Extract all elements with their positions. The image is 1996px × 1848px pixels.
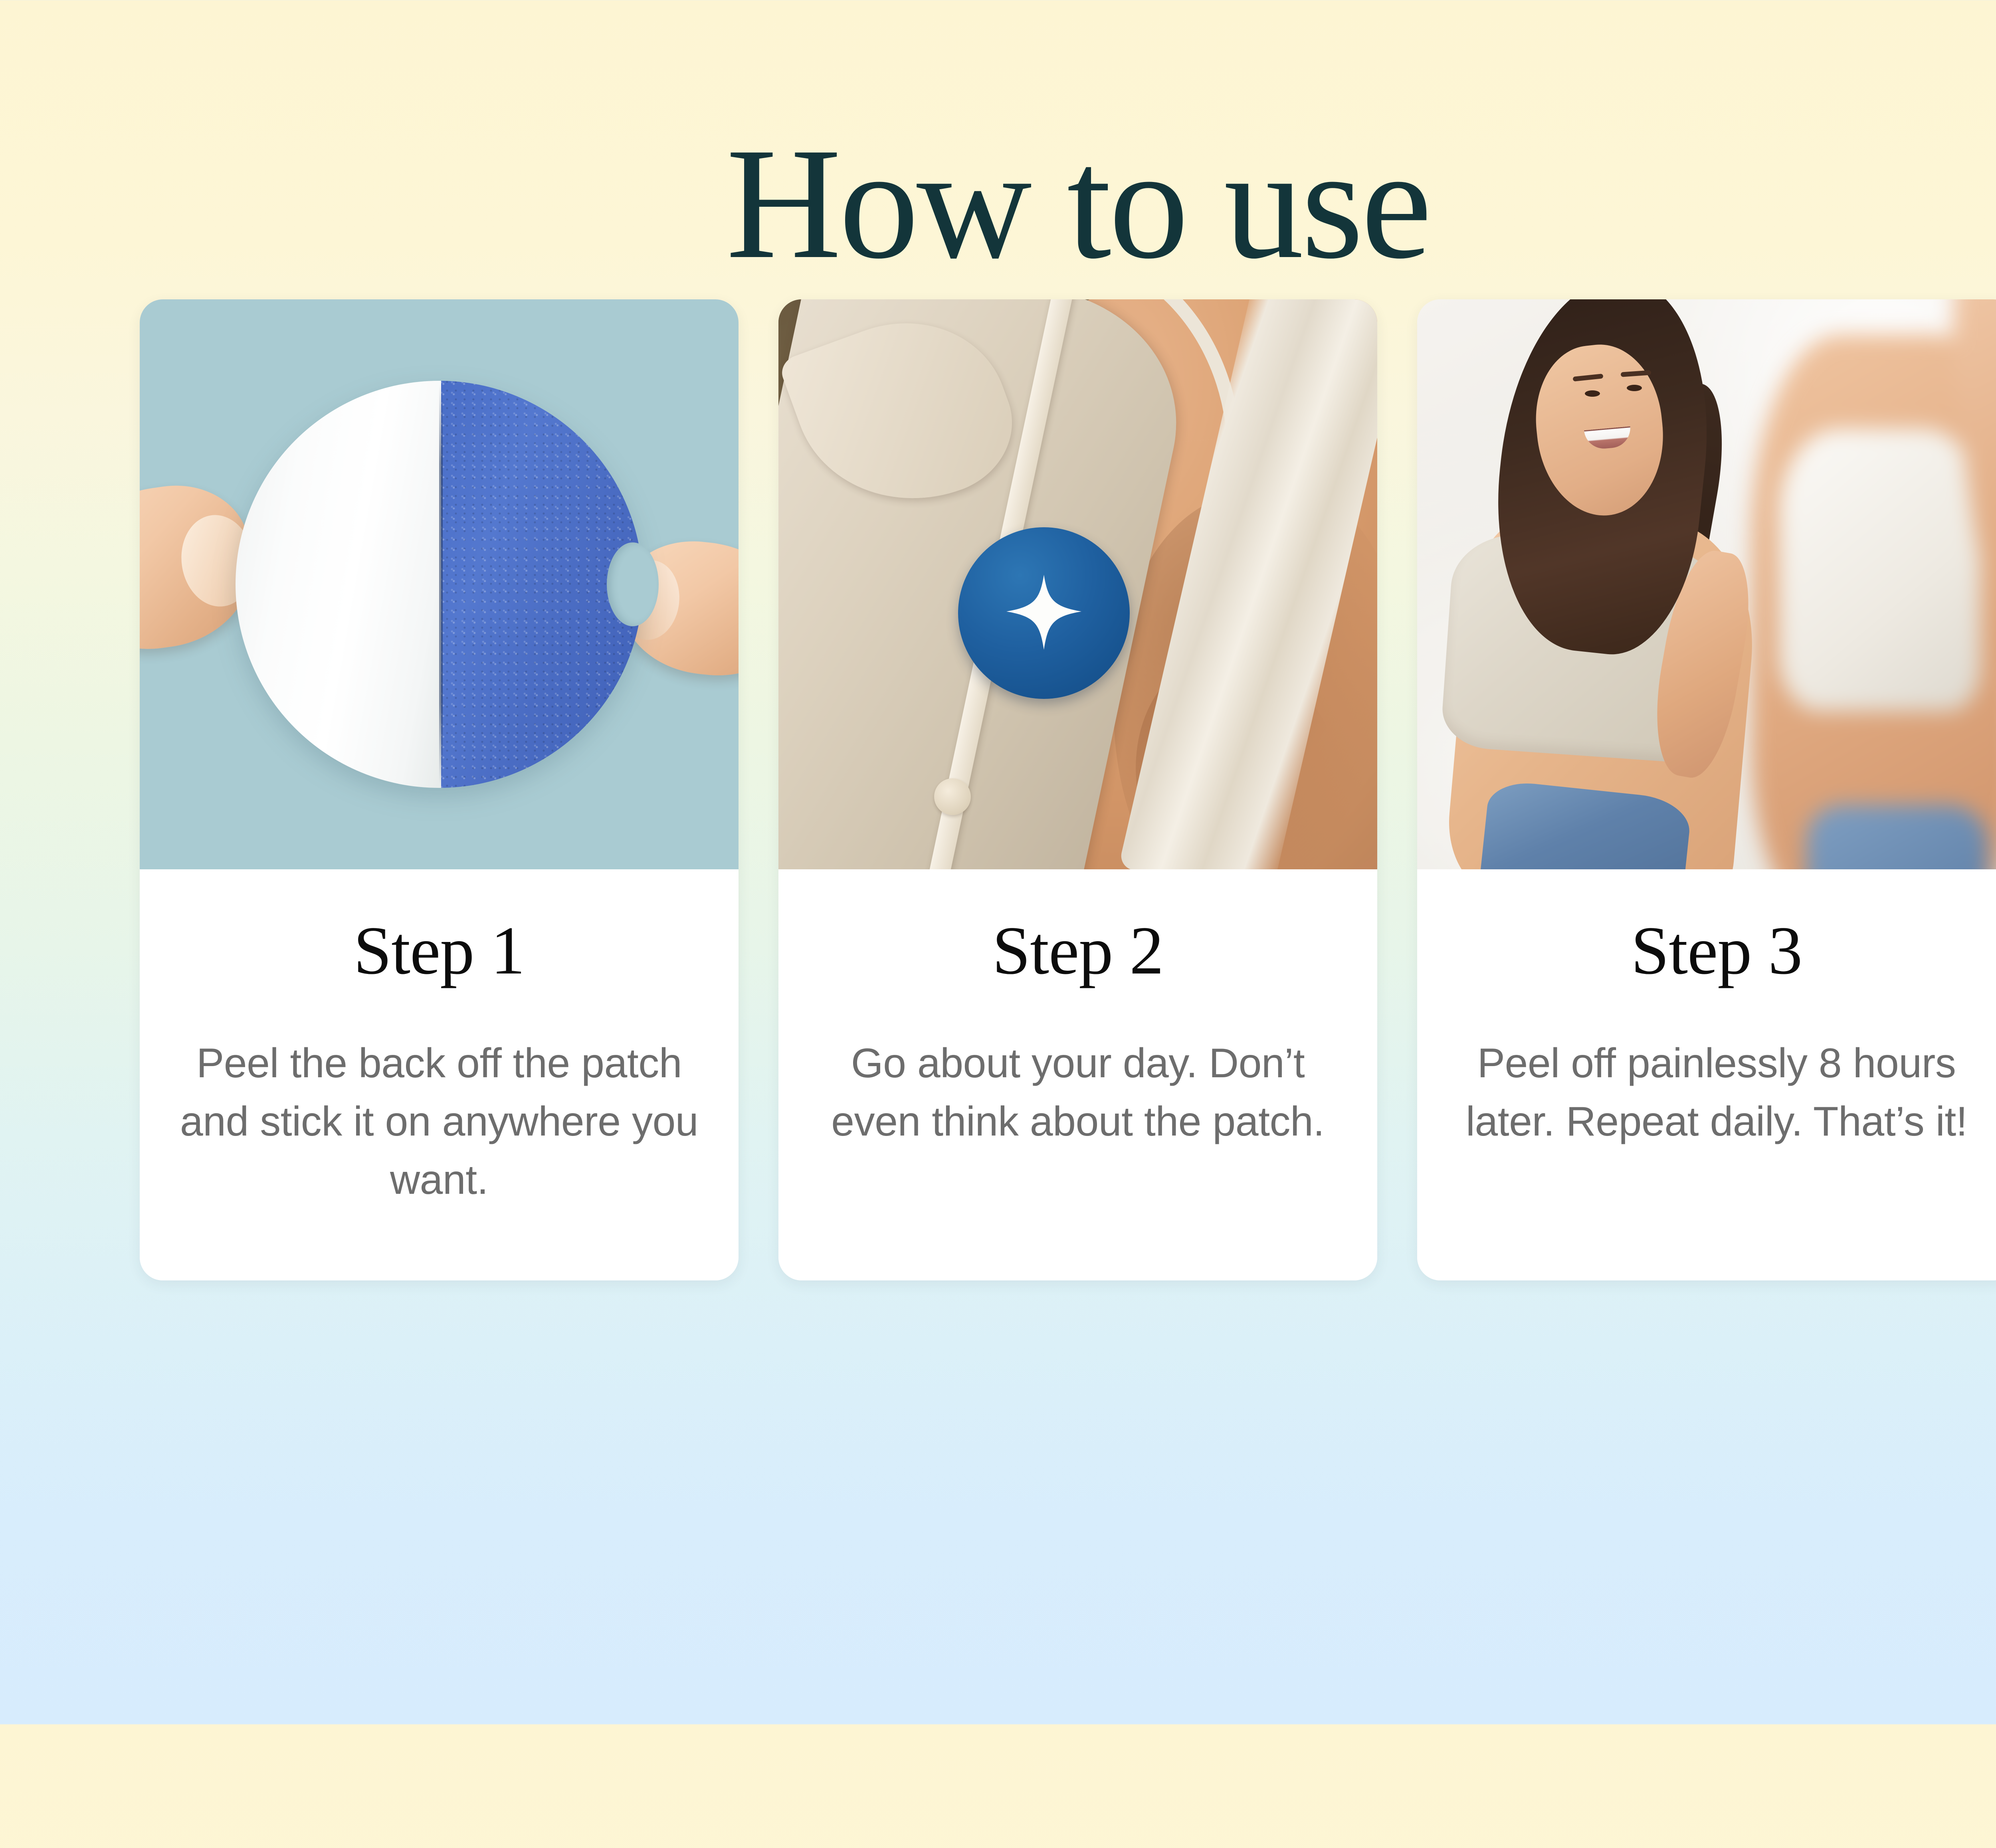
patch-illustration [236, 381, 643, 788]
step-1-description: Peel the back off the patch and stick it… [180, 1034, 699, 1209]
patch-seam-divider [439, 385, 443, 784]
blurred-person-jeans [1807, 805, 1987, 869]
shirt-button-icon [934, 778, 971, 815]
step-2-image [778, 299, 1377, 869]
step-3-description: Peel off painlessly 8 hours later. Repea… [1457, 1034, 1976, 1151]
step-3-title: Step 3 [1457, 916, 1976, 985]
step-card-2: Step 2 Go about your day. Don’t even thi… [778, 299, 1377, 1280]
step-card-1: Step 1 Peel the back off the patch and s… [140, 299, 739, 1280]
step-3-image [1417, 299, 1996, 869]
blue-patch-applied [958, 527, 1130, 699]
blurred-person-top [1779, 429, 1981, 711]
step-card-3: Step 3 Peel off painlessly 8 hours later… [1417, 299, 1996, 1280]
blurred-second-person [1717, 299, 1996, 869]
page-title: How to use [0, 124, 1996, 291]
patch-white-half [236, 381, 441, 788]
step-1-body: Step 1 Peel the back off the patch and s… [140, 869, 739, 1280]
step-1-title: Step 1 [180, 916, 699, 985]
how-to-use-steps-row: Step 1 Peel the back off the patch and s… [0, 299, 1996, 1280]
patch-circle [236, 381, 643, 788]
step-2-description: Go about your day. Don’t even think abou… [818, 1034, 1337, 1151]
sparkle-icon [1004, 573, 1084, 653]
step-1-image [140, 299, 739, 869]
step-3-body: Step 3 Peel off painlessly 8 hours later… [1417, 869, 1996, 1280]
step-2-body: Step 2 Go about your day. Don’t even thi… [778, 869, 1377, 1280]
step-2-title: Step 2 [818, 916, 1337, 985]
patch-pinch-notch [607, 542, 659, 626]
